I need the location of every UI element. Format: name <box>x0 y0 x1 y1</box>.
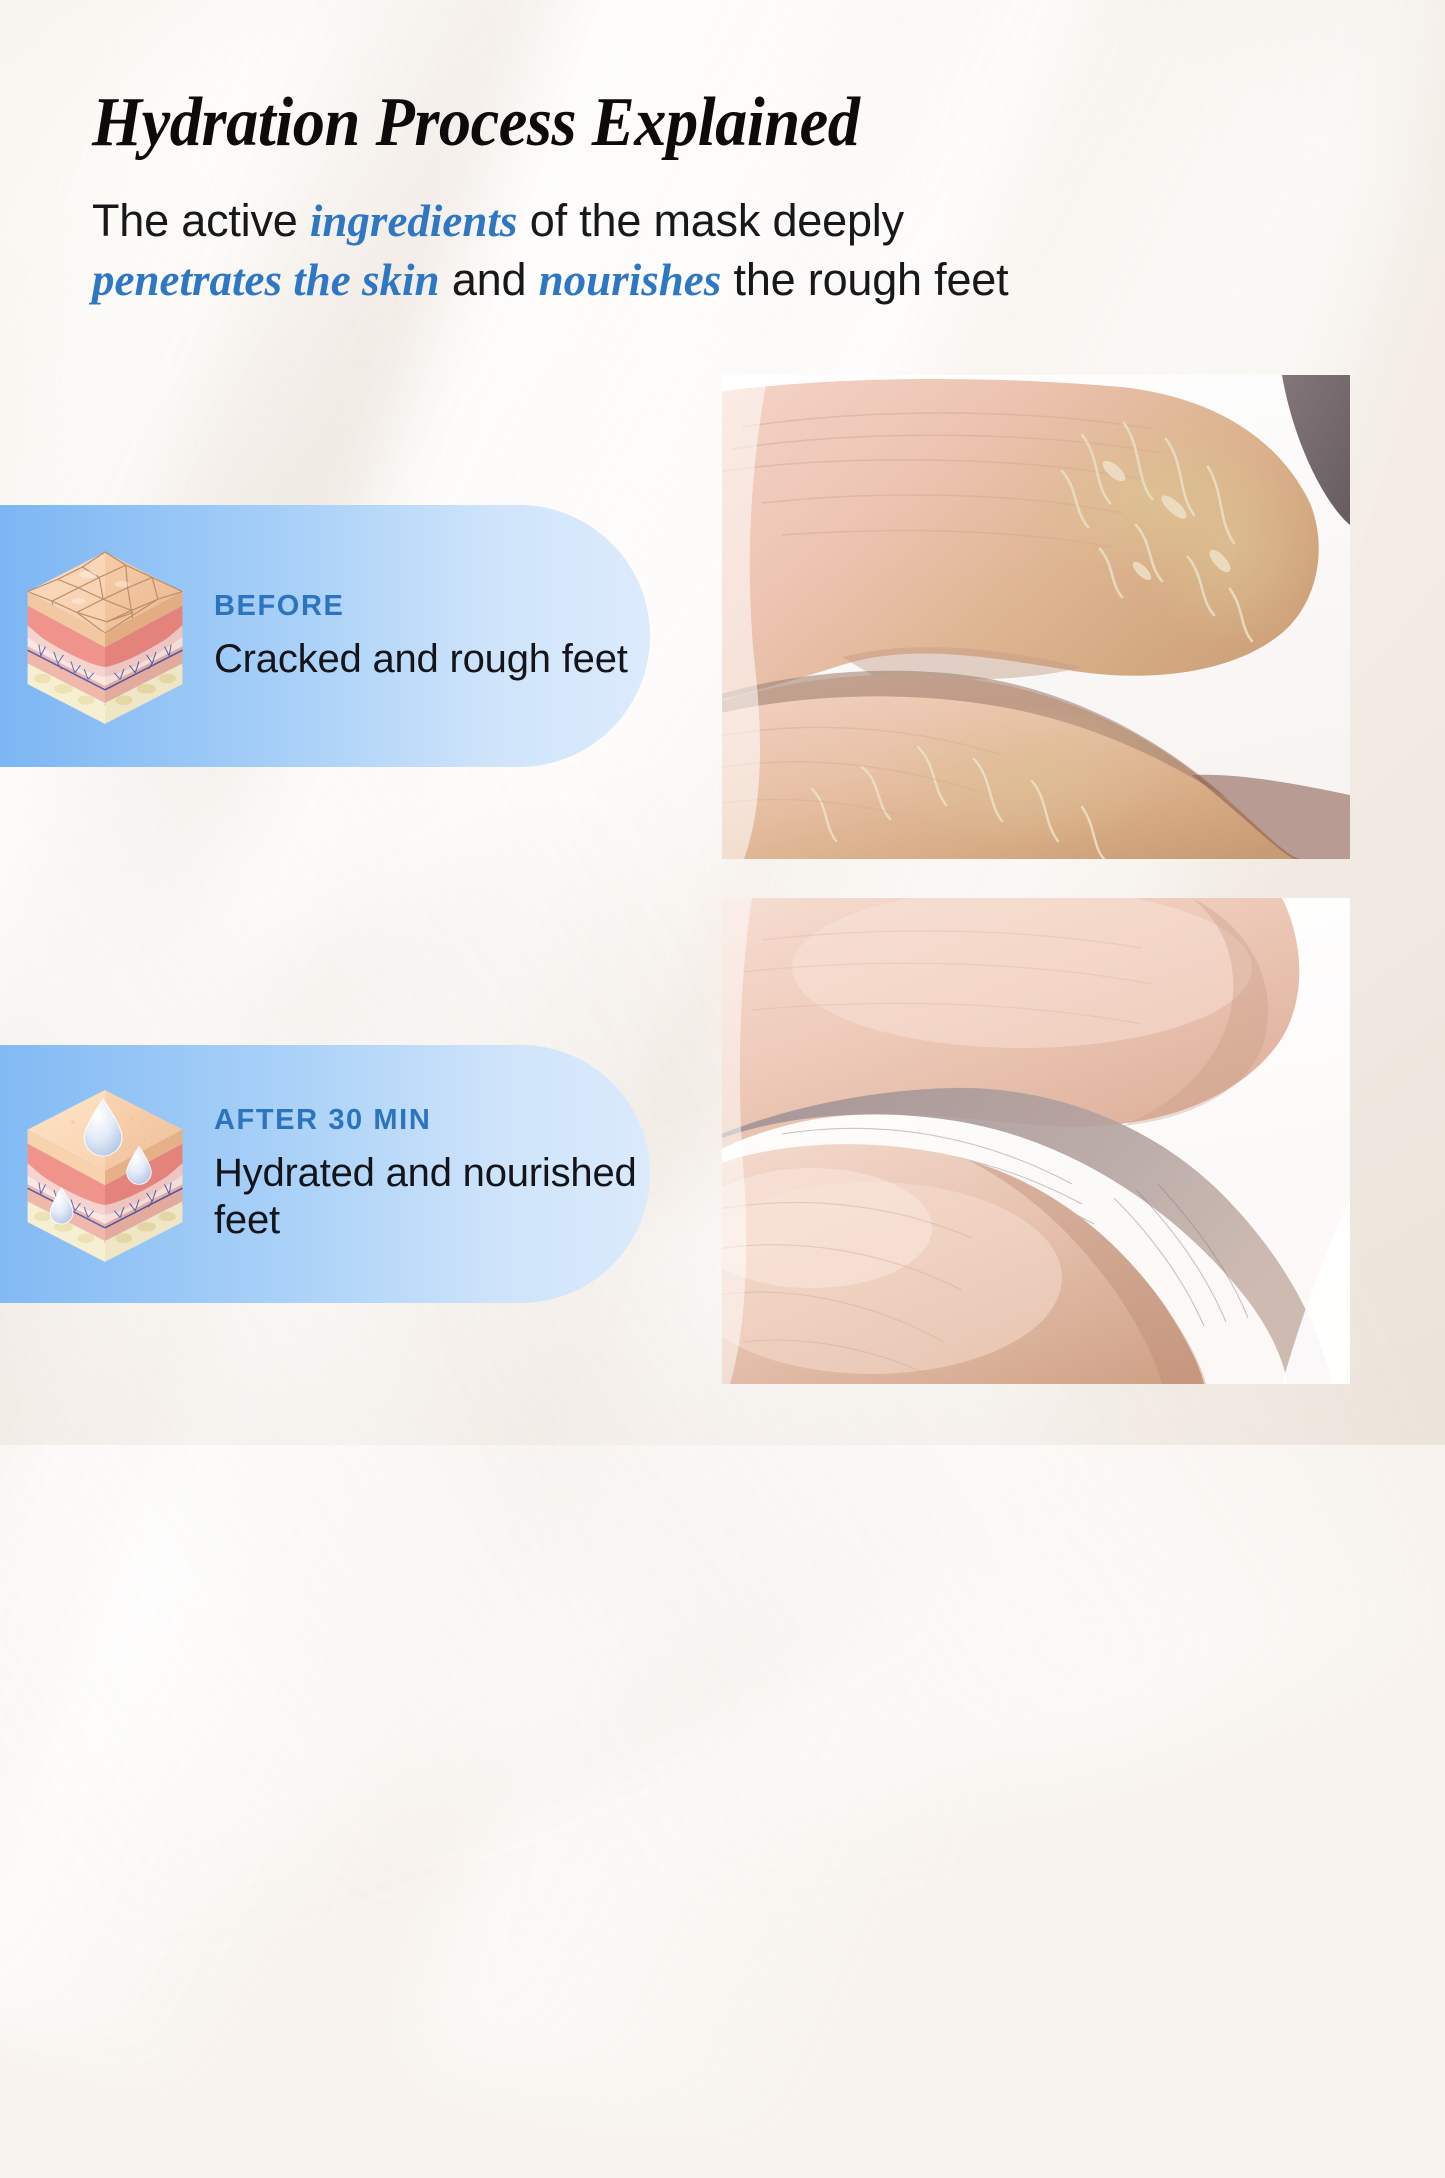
pill-text-before: BEFORE Cracked and rough feet <box>210 590 628 683</box>
subtitle-text-4: the rough feet <box>721 254 1008 305</box>
page-title: Hydration Process Explained <box>92 88 975 158</box>
photo-after-hydrated-heel <box>722 898 1350 1384</box>
skin-cross-section-cracked-icon <box>0 546 210 726</box>
subtitle-text-3: and <box>440 254 539 305</box>
page-subtitle: The active ingredients of the mask deepl… <box>92 192 1022 310</box>
subtitle-text-2: of the mask deeply <box>517 195 903 246</box>
pill-body-before: Cracked and rough feet <box>214 636 628 683</box>
pill-kicker-after: AFTER 30 MIN <box>214 1104 650 1137</box>
skin-cross-section-hydrated-icon <box>0 1084 210 1264</box>
pill-body-after: Hydrated and nourished feet <box>214 1150 650 1244</box>
subtitle-highlight-penetrates: penetrates the skin <box>92 255 440 305</box>
photo-before-cracked-heel <box>722 375 1350 859</box>
subtitle-highlight-ingredients: ingredients <box>310 196 518 246</box>
comparison-pill-before: BEFORE Cracked and rough feet <box>0 505 650 767</box>
subtitle-highlight-nourishes: nourishes <box>539 255 722 305</box>
comparison-pill-after: AFTER 30 MIN Hydrated and nourished feet <box>0 1045 650 1303</box>
subtitle-text-1: The active <box>92 195 310 246</box>
heading-block: Hydration Process Explained The active i… <box>92 88 1052 310</box>
pill-text-after: AFTER 30 MIN Hydrated and nourished feet <box>210 1104 650 1244</box>
pill-kicker-before: BEFORE <box>214 590 628 623</box>
